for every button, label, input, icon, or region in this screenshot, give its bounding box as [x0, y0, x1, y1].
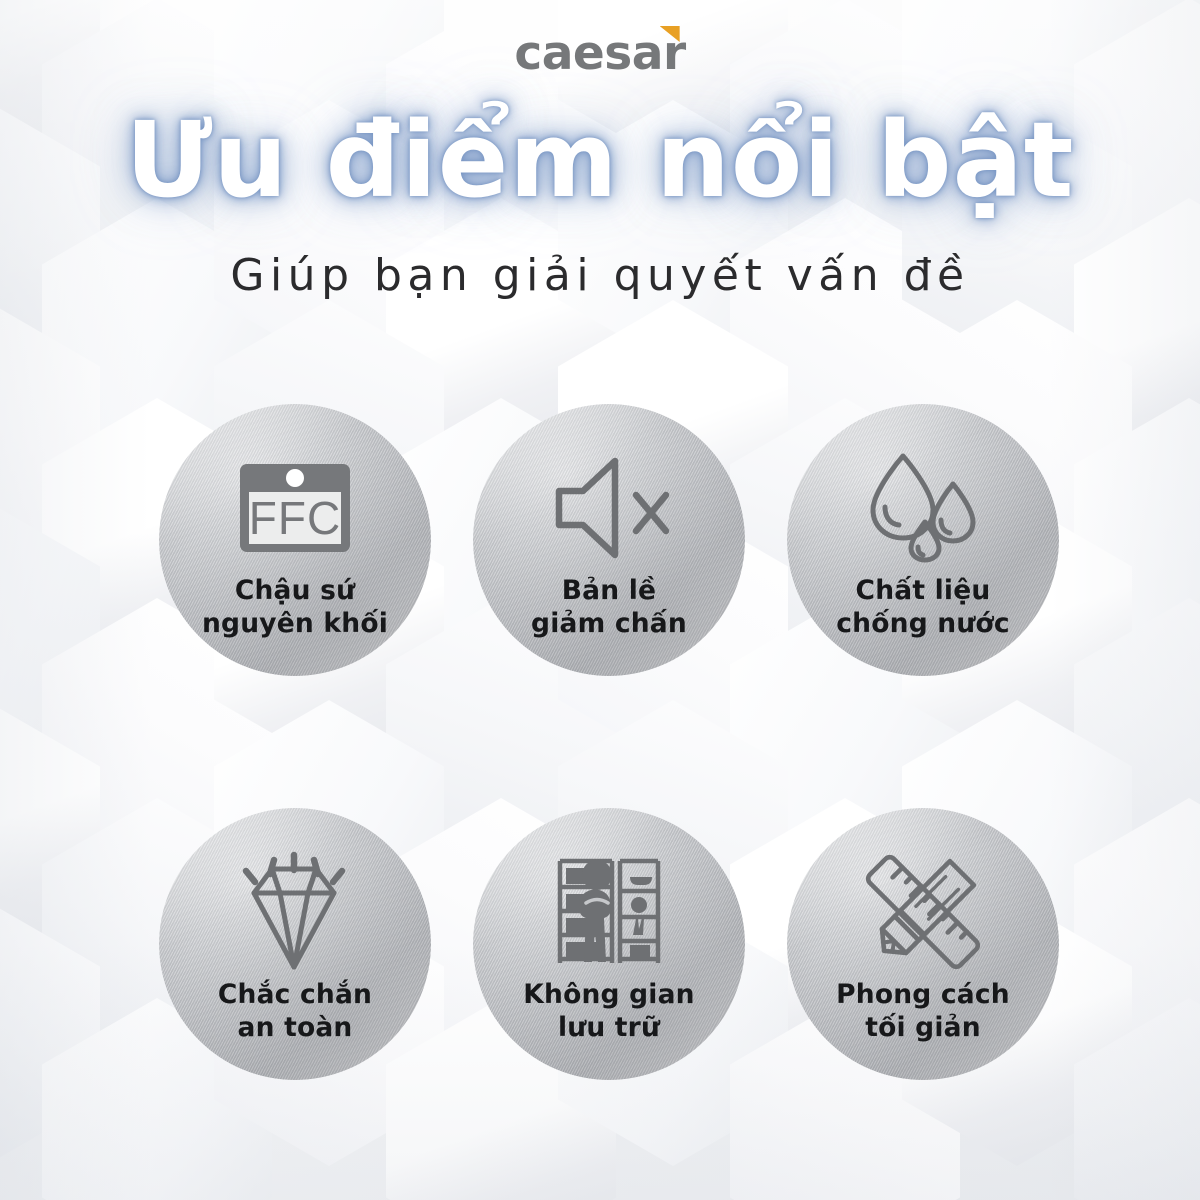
pencil-ruler-icon [860, 846, 986, 978]
feature-label-line2: an toàn [170, 1011, 420, 1044]
feature-item-waterproof-material[interactable]: Chất liệu chống nước [787, 404, 1059, 676]
speaker-mute-icon [546, 442, 672, 574]
feature-item-minimal-style[interactable]: Phong cách tối giản [787, 808, 1059, 1080]
feature-grid: FFC Chậu sứ nguyên khối Bản lề giảm chấn [0, 404, 1200, 1104]
brand-logo-text: caesar [514, 26, 685, 81]
page-title: Ưu điểm nổi bật [0, 104, 1200, 216]
feature-label: Chất liệu chống nước [798, 574, 1048, 641]
feature-label-line2: giảm chấn [484, 607, 734, 640]
page-subtitle-text: Giúp bạn giải quyết vấn đề [230, 252, 969, 300]
feature-label-line1: Phong cách [798, 978, 1048, 1011]
feature-label: Bản lề giảm chấn [484, 574, 734, 641]
feature-label: Chắc chắn an toàn [170, 978, 420, 1045]
feature-label: Không gian lưu trữ [484, 978, 734, 1045]
page-title-text: Ưu điểm nổi bật [125, 104, 1074, 216]
promo-poster: caesar Ưu điểm nổi bật Giúp bạn giải quy… [0, 0, 1200, 1200]
feature-label-line2: chống nước [798, 607, 1048, 640]
feature-item-sturdy-safe[interactable]: Chắc chắn an toàn [159, 808, 431, 1080]
feature-item-storage-space[interactable]: Không gian lưu trữ [473, 808, 745, 1080]
svg-text:FFC: FFC [249, 492, 341, 544]
feature-label-line1: Không gian [484, 978, 734, 1011]
feature-item-soft-close-hinge[interactable]: Bản lề giảm chấn [473, 404, 745, 676]
feature-label-line1: Chậu sứ [170, 574, 420, 607]
feature-label-line2: tối giản [798, 1011, 1048, 1044]
diamond-sparkle-icon [230, 846, 360, 978]
storage-shelf-person-icon [550, 846, 668, 978]
brand-logo: caesar [0, 30, 1200, 77]
feature-label-line1: Chắc chắn [170, 978, 420, 1011]
ffc-badge-icon: FFC [236, 442, 354, 574]
feature-item-ffc-basin[interactable]: FFC Chậu sứ nguyên khối [159, 404, 431, 676]
feature-label-line2: lưu trữ [484, 1011, 734, 1044]
page-subtitle: Giúp bạn giải quyết vấn đề [0, 252, 1200, 300]
water-drops-icon [867, 442, 979, 574]
feature-label: Phong cách tối giản [798, 978, 1048, 1045]
feature-label-line1: Bản lề [484, 574, 734, 607]
feature-label-line1: Chất liệu [798, 574, 1048, 607]
feature-label-line2: nguyên khối [170, 607, 420, 640]
feature-label: Chậu sứ nguyên khối [170, 574, 420, 641]
